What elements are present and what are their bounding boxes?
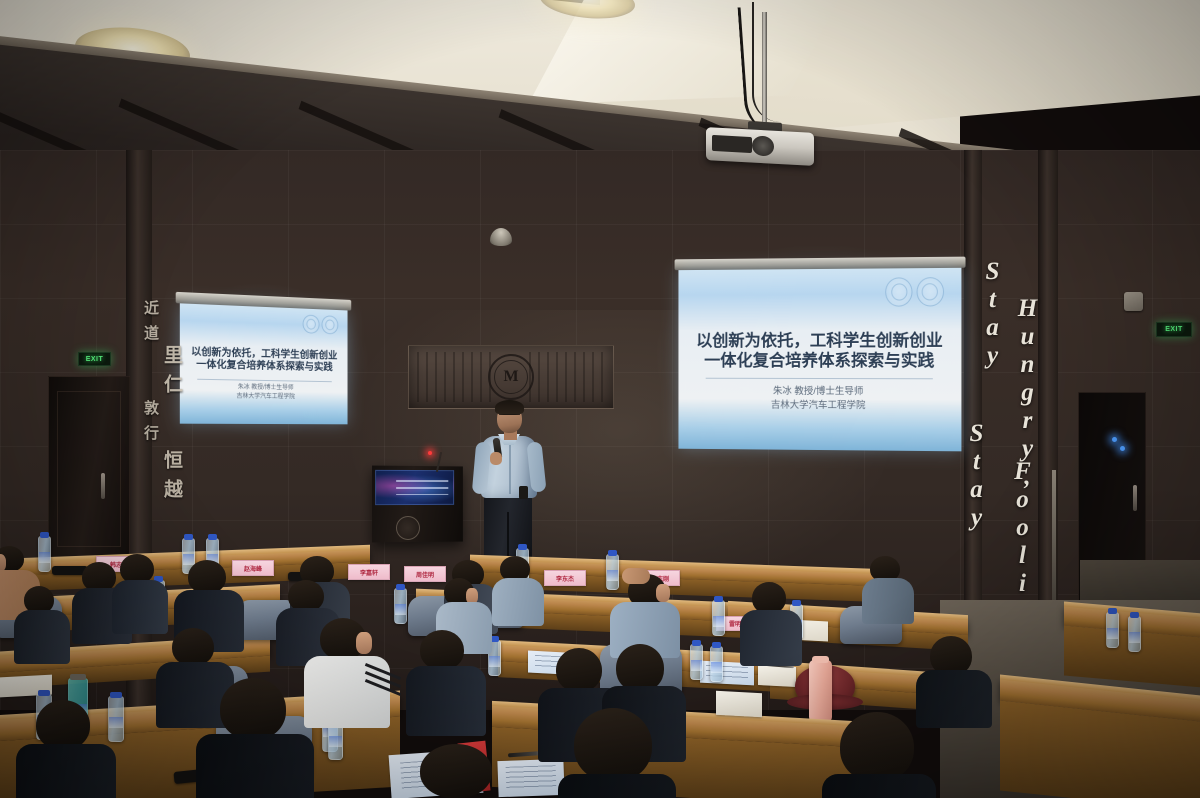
water-bottle [710,646,723,682]
audience-body [112,580,168,634]
light-switch-plate[interactable] [1124,292,1143,311]
water-bottle [690,644,703,680]
audience-body [740,610,802,666]
water-bottle [606,554,619,590]
exit-sign-label: EXIT [1165,326,1183,333]
wall-calligraphy-3: 敦行 [140,400,161,450]
audience-head-long-hair [574,708,652,782]
audience-body [196,734,314,798]
projection-screen-right: 以创新为依托，工科学生创新创业 一体化复合培养体系探索与实践 朱冰 教授/博士生… [675,257,966,452]
audience-head [172,628,214,666]
wall-text-stay-2: Stay [962,420,990,532]
door-handle[interactable] [101,473,105,499]
plaque-text-columns [529,352,605,402]
water-bottle [1106,612,1119,648]
blue-program-sheet [497,759,564,797]
presenter-shirt-placket [509,440,511,494]
slide-divider [197,378,331,381]
water-bottle [1128,616,1141,652]
institution-seal-icon [396,516,420,540]
pink-thermos [809,660,832,722]
audience-head [36,700,90,750]
water-bottle [394,588,407,624]
plaque-emblem-letter: M [503,369,518,385]
slide-title-line-2: 一体化复合培养体系探索与实践 [183,359,344,375]
audience-head [220,678,286,740]
projector-mount-rod [762,12,767,130]
audience-hand [622,568,650,584]
slide-title: 以创新为依托，工科学生创新创业 一体化复合培养体系探索与实践 [684,330,956,371]
handout-paper [758,665,796,687]
name-card: 李东杰 [544,570,586,586]
audience-body [822,774,936,798]
handout-paper [716,691,762,717]
exit-sign-right: EXIT [1156,322,1192,337]
desk-front-panel [1000,700,1200,798]
red-laser-dot [428,451,432,455]
jlu-emblem-icon: M [488,354,534,400]
projector-vent [712,135,752,153]
exit-sign-label: EXIT [86,356,104,363]
slide-subtitle: 朱冰 教授/博士生导师 吉林大学汽车工程学院 [684,384,956,413]
audience-face [656,584,670,602]
wall-calligraphy-2: 里仁 [158,345,185,403]
presenter-hair [495,400,524,415]
audience-body [916,670,992,728]
slide-title-line-2: 一体化复合培养体系探索与实践 [684,351,956,371]
plaque-text-columns [417,352,493,402]
audience-body [862,578,914,624]
side-door-left[interactable] [48,376,130,558]
handrail [1052,470,1056,600]
projection-screen-left: 以创新为依托，工科学生创新创业 一体化复合培养体系探索与实践 朱冰 教授/博士生… [176,292,352,425]
automotive-college-logo [916,277,944,306]
slide-title: 以创新为依托，工科学生创新创业 一体化复合培养体系探索与实践 [183,347,344,375]
paper-text-lines [506,766,557,791]
audience-body [558,774,676,798]
university-seal-logo [885,277,913,306]
audience-body [492,578,544,626]
door-handle[interactable] [1133,485,1137,511]
exit-sign-left: EXIT [78,352,111,366]
name-card-text: 赵海峰 [244,564,262,573]
university-seal-logo [302,314,319,333]
podium-banner [375,470,454,505]
name-card-text: 李东杰 [556,574,574,583]
ceiling-dome-camera-icon [490,228,512,246]
presenter-hand [490,452,502,465]
projector-lens [752,135,774,156]
automotive-college-logo [321,315,338,334]
wall-calligraphy-4: 恒越 [158,450,185,508]
slide-affiliation: 吉林大学汽车工程学院 [183,392,344,403]
wall-calligraphy-1: 近道 [140,300,161,350]
audience-body [14,610,70,664]
audience-head [188,560,226,594]
lecture-hall-photo: 以创新为依托，工科学生创新创业 一体化复合培养体系探索与实践 朱冰 教授/博士生… [0,0,1200,798]
door-panel-inset [57,391,121,547]
audience-head-long-hair [840,712,914,782]
blue-indicator-led [1120,446,1125,451]
podium-banner-text [396,480,448,496]
screen-surface: 以创新为依托，工科学生创新创业 一体化复合培养体系探索与实践 朱冰 教授/博士生… [678,268,961,452]
name-card-text: 周佳明 [416,570,434,579]
slide-subtitle: 朱冰 教授/博士生导师 吉林大学汽车工程学院 [183,383,344,403]
audience-body [16,744,116,798]
presenter-glasses-icon [499,414,520,420]
slide-affiliation: 吉林大学汽车工程学院 [684,398,956,413]
slide-title-line-1: 以创新为依托，工科学生创新创业 [684,330,956,350]
audience-head-long-hair [616,644,664,692]
water-bottle [108,696,124,742]
water-bottle [38,536,51,572]
audience-head [420,630,464,670]
slide-presenter: 朱冰 教授/博士生导师 [684,384,956,399]
name-card: 李嘉轩 [348,564,390,580]
name-card-text: 李嘉轩 [360,568,378,577]
name-card: 周佳明 [404,566,446,582]
presentation-clicker-icon [519,486,528,499]
slide-logos [302,314,338,334]
audience-head [420,744,492,798]
audience-body [406,666,486,736]
water-bottle [712,600,725,636]
wall-text-stay-1: Stay [978,258,1006,370]
name-card: 赵海峰 [232,560,274,576]
slide-divider [706,377,932,379]
audience-face [356,632,372,654]
blue-indicator-led [1112,437,1117,442]
screen-surface: 以创新为依托，工科学生创新创业 一体化复合培养体系探索与实践 朱冰 教授/博士生… [180,303,348,424]
audience-head [556,648,602,692]
slide-logos [885,277,944,307]
